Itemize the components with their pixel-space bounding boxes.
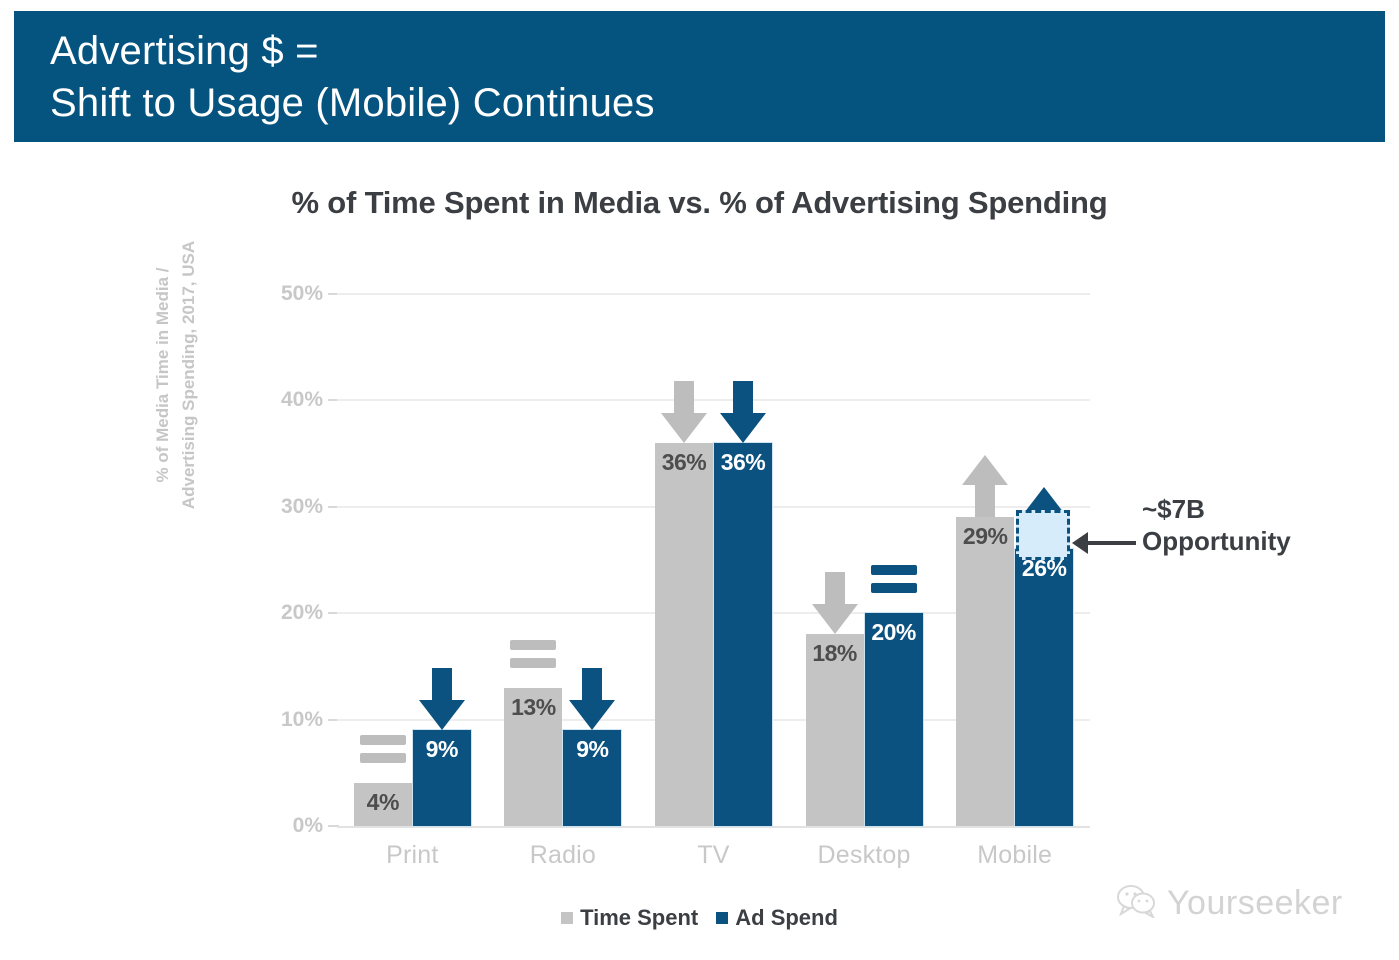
arrow-down-icon: [720, 381, 766, 443]
y-tick-label: 0%: [265, 814, 323, 838]
y-tick-label: 20%: [265, 601, 323, 625]
left-arrow-icon: [1072, 532, 1088, 554]
equals-icon: [360, 735, 406, 763]
wechat-icon: [1117, 884, 1157, 923]
equals-bar: [360, 753, 406, 763]
y-axis-title: % of Media Time in Media / Advertising S…: [150, 160, 210, 590]
arrow-head: [962, 455, 1008, 485]
bar-print-ad-spend: 9%: [413, 730, 471, 826]
legend-label: Time Spent: [580, 905, 698, 931]
legend-label: Ad Spend: [735, 905, 838, 931]
opportunity-gap-box: [1016, 510, 1070, 560]
arrow-down-icon: [661, 381, 707, 443]
bar-tv-ad-spend: 36%: [714, 443, 772, 826]
x-axis-label-print: Print: [327, 841, 497, 870]
arrow-head: [419, 700, 465, 730]
equals-bar: [871, 565, 917, 575]
legend-swatch: [716, 912, 728, 924]
arrow-shaft: [825, 572, 845, 604]
y-tick-label: 50%: [265, 282, 323, 306]
arrow-shaft: [674, 381, 694, 413]
x-axis-label-desktop: Desktop: [779, 841, 949, 870]
bar-tv-time-spent: 36%: [655, 443, 713, 826]
arrow-down-icon: [569, 668, 615, 730]
equals-bar: [510, 640, 556, 650]
chart-plot-area: % of Media Time in Media / Advertising S…: [0, 0, 1399, 960]
equals-bar: [510, 658, 556, 668]
arrow-down-icon: [812, 572, 858, 634]
bar-value-label: 20%: [865, 619, 923, 646]
bar-mobile-time-spent: 29%: [956, 517, 1014, 826]
arrow-head: [569, 700, 615, 730]
x-axis-label-tv: TV: [629, 841, 799, 870]
bar-value-label: 36%: [714, 449, 772, 476]
bar-value-label: 36%: [655, 449, 713, 476]
x-axis-label-mobile: Mobile: [930, 841, 1100, 870]
legend-item-time-spent[interactable]: Time Spent: [561, 905, 698, 931]
bar-value-label: 9%: [413, 736, 471, 763]
bar-radio-ad-spend: 9%: [563, 730, 621, 826]
equals-bar: [871, 583, 917, 593]
gridline: [337, 399, 1090, 401]
bar-mobile-ad-spend: 26%: [1015, 549, 1073, 826]
bar-print-time-spent: 4%: [354, 783, 412, 826]
bar-value-label: 18%: [806, 640, 864, 667]
gridline: [337, 293, 1090, 295]
watermark: Yourseeker: [1117, 884, 1343, 923]
bar-radio-time-spent: 13%: [504, 688, 562, 826]
arrow-shaft: [975, 485, 995, 517]
arrow-head: [661, 413, 707, 443]
equals-bar: [360, 735, 406, 745]
opportunity-arrow-shaft: [1086, 541, 1136, 545]
arrow-down-icon: [419, 668, 465, 730]
x-axis-label-radio: Radio: [478, 841, 648, 870]
bar-desktop-ad-spend: 20%: [865, 613, 923, 826]
y-tick-label: 40%: [265, 388, 323, 412]
x-axis-line: [337, 826, 1090, 828]
y-tick-label: 10%: [265, 708, 323, 732]
bar-value-label: 4%: [354, 789, 412, 816]
arrow-shaft: [733, 381, 753, 413]
bar-value-label: 9%: [563, 736, 621, 763]
legend-swatch: [561, 912, 573, 924]
legend-item-ad-spend[interactable]: Ad Spend: [716, 905, 838, 931]
y-tick-label: 30%: [265, 495, 323, 519]
watermark-text: Yourseeker: [1167, 884, 1343, 923]
bar-value-label: 13%: [504, 694, 562, 721]
arrow-head: [812, 604, 858, 634]
opportunity-label: ~$7B Opportunity: [1142, 493, 1291, 557]
arrow-up-icon: [962, 455, 1008, 517]
arrow-head: [720, 413, 766, 443]
equals-icon: [510, 640, 556, 668]
arrow-shaft: [582, 668, 602, 700]
equals-icon: [871, 565, 917, 593]
arrow-shaft: [432, 668, 452, 700]
bar-value-label: 29%: [956, 523, 1014, 550]
bar-desktop-time-spent: 18%: [806, 634, 864, 826]
